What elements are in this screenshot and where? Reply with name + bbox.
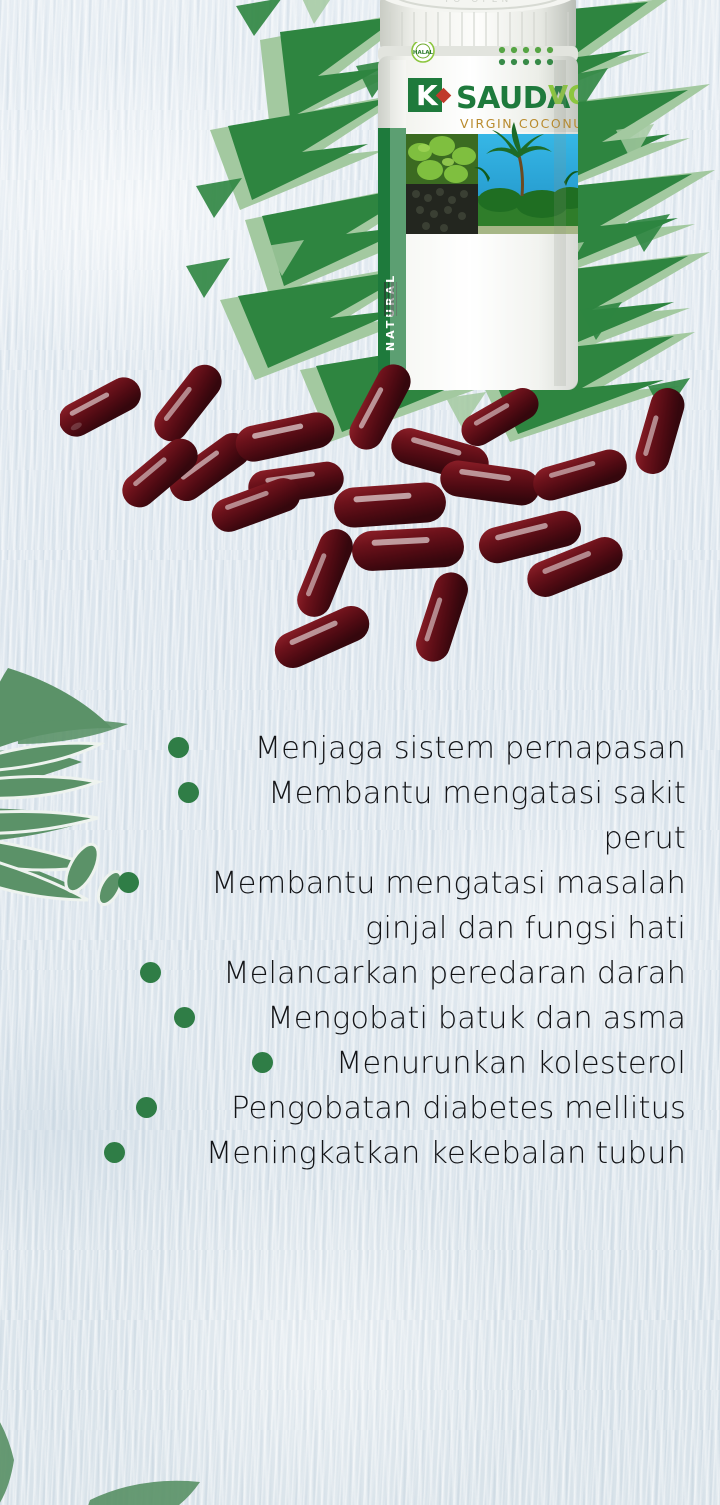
benefit-text: Meningkatkan kekebalan tubuh: [139, 1131, 686, 1176]
bullet-dot-icon: [104, 1142, 125, 1163]
leaf-decoration-bottom: [0, 1330, 290, 1505]
benefits-list: Menjaga sistem pernapasan Membantu menga…: [0, 726, 720, 1176]
product-bottle: TO OPEN EXP 12.2026: [372, 0, 584, 390]
list-item: Melancarkan peredaran darah: [0, 951, 720, 996]
cap-open-text: TO OPEN: [443, 0, 512, 5]
list-item: Pengobatan diabetes mellitus: [0, 1086, 720, 1131]
benefit-text: Menjaga sistem pernapasan: [203, 726, 686, 771]
bullet-dot-icon: [140, 962, 161, 983]
bullet-dot-icon: [118, 872, 139, 893]
halal-badge: HALAL: [412, 40, 434, 62]
bullet-dot-icon: [178, 782, 199, 803]
bullet-dot-icon: [168, 737, 189, 758]
benefit-text: Membantu mengatasi masalah ginjal dan fu…: [153, 861, 686, 951]
benefit-text: Pengobatan diabetes mellitus: [171, 1086, 686, 1131]
benefit-text: Menurunkan kolesterol: [287, 1041, 686, 1086]
bottle-cap: TO OPEN EXP 12.2026: [380, 0, 576, 52]
svg-text:HALAL: HALAL: [413, 50, 434, 56]
benefit-text: Melancarkan peredaran darah: [175, 951, 686, 996]
list-item: Menurunkan kolesterol: [0, 1041, 720, 1086]
poster-canvas: TO OPEN EXP 12.2026: [0, 0, 720, 1505]
bullet-dot-icon: [252, 1052, 273, 1073]
bullet-dot-icon: [174, 1007, 195, 1028]
list-item: Membantu mengatasi masalah ginjal dan fu…: [0, 861, 720, 951]
list-item: Meningkatkan kekebalan tubuh: [0, 1131, 720, 1176]
bullet-dot-icon: [136, 1097, 157, 1118]
benefit-text: Membantu mengatasi sakit perut: [213, 771, 686, 861]
list-item: Menjaga sistem pernapasan: [0, 726, 720, 771]
list-item: Membantu mengatasi sakit perut: [0, 771, 720, 861]
benefit-text: Mengobati batuk dan asma: [209, 996, 686, 1041]
svg-text:K: K: [416, 79, 439, 112]
list-item: Mengobati batuk dan asma: [0, 996, 720, 1041]
